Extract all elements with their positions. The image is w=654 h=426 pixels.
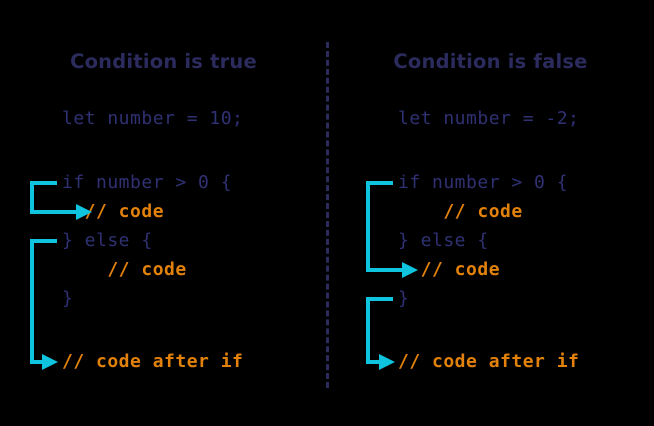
arrow-close-to-after-if-false bbox=[368, 299, 395, 370]
flow-arrows bbox=[0, 0, 654, 426]
arrow-if-to-then-branch-true bbox=[32, 183, 92, 220]
diagram-canvas: Condition is true let number = 10; if nu… bbox=[0, 0, 654, 426]
arrow-else-to-after-if-true bbox=[32, 241, 58, 370]
arrow-if-to-else-branch-false bbox=[368, 183, 418, 278]
